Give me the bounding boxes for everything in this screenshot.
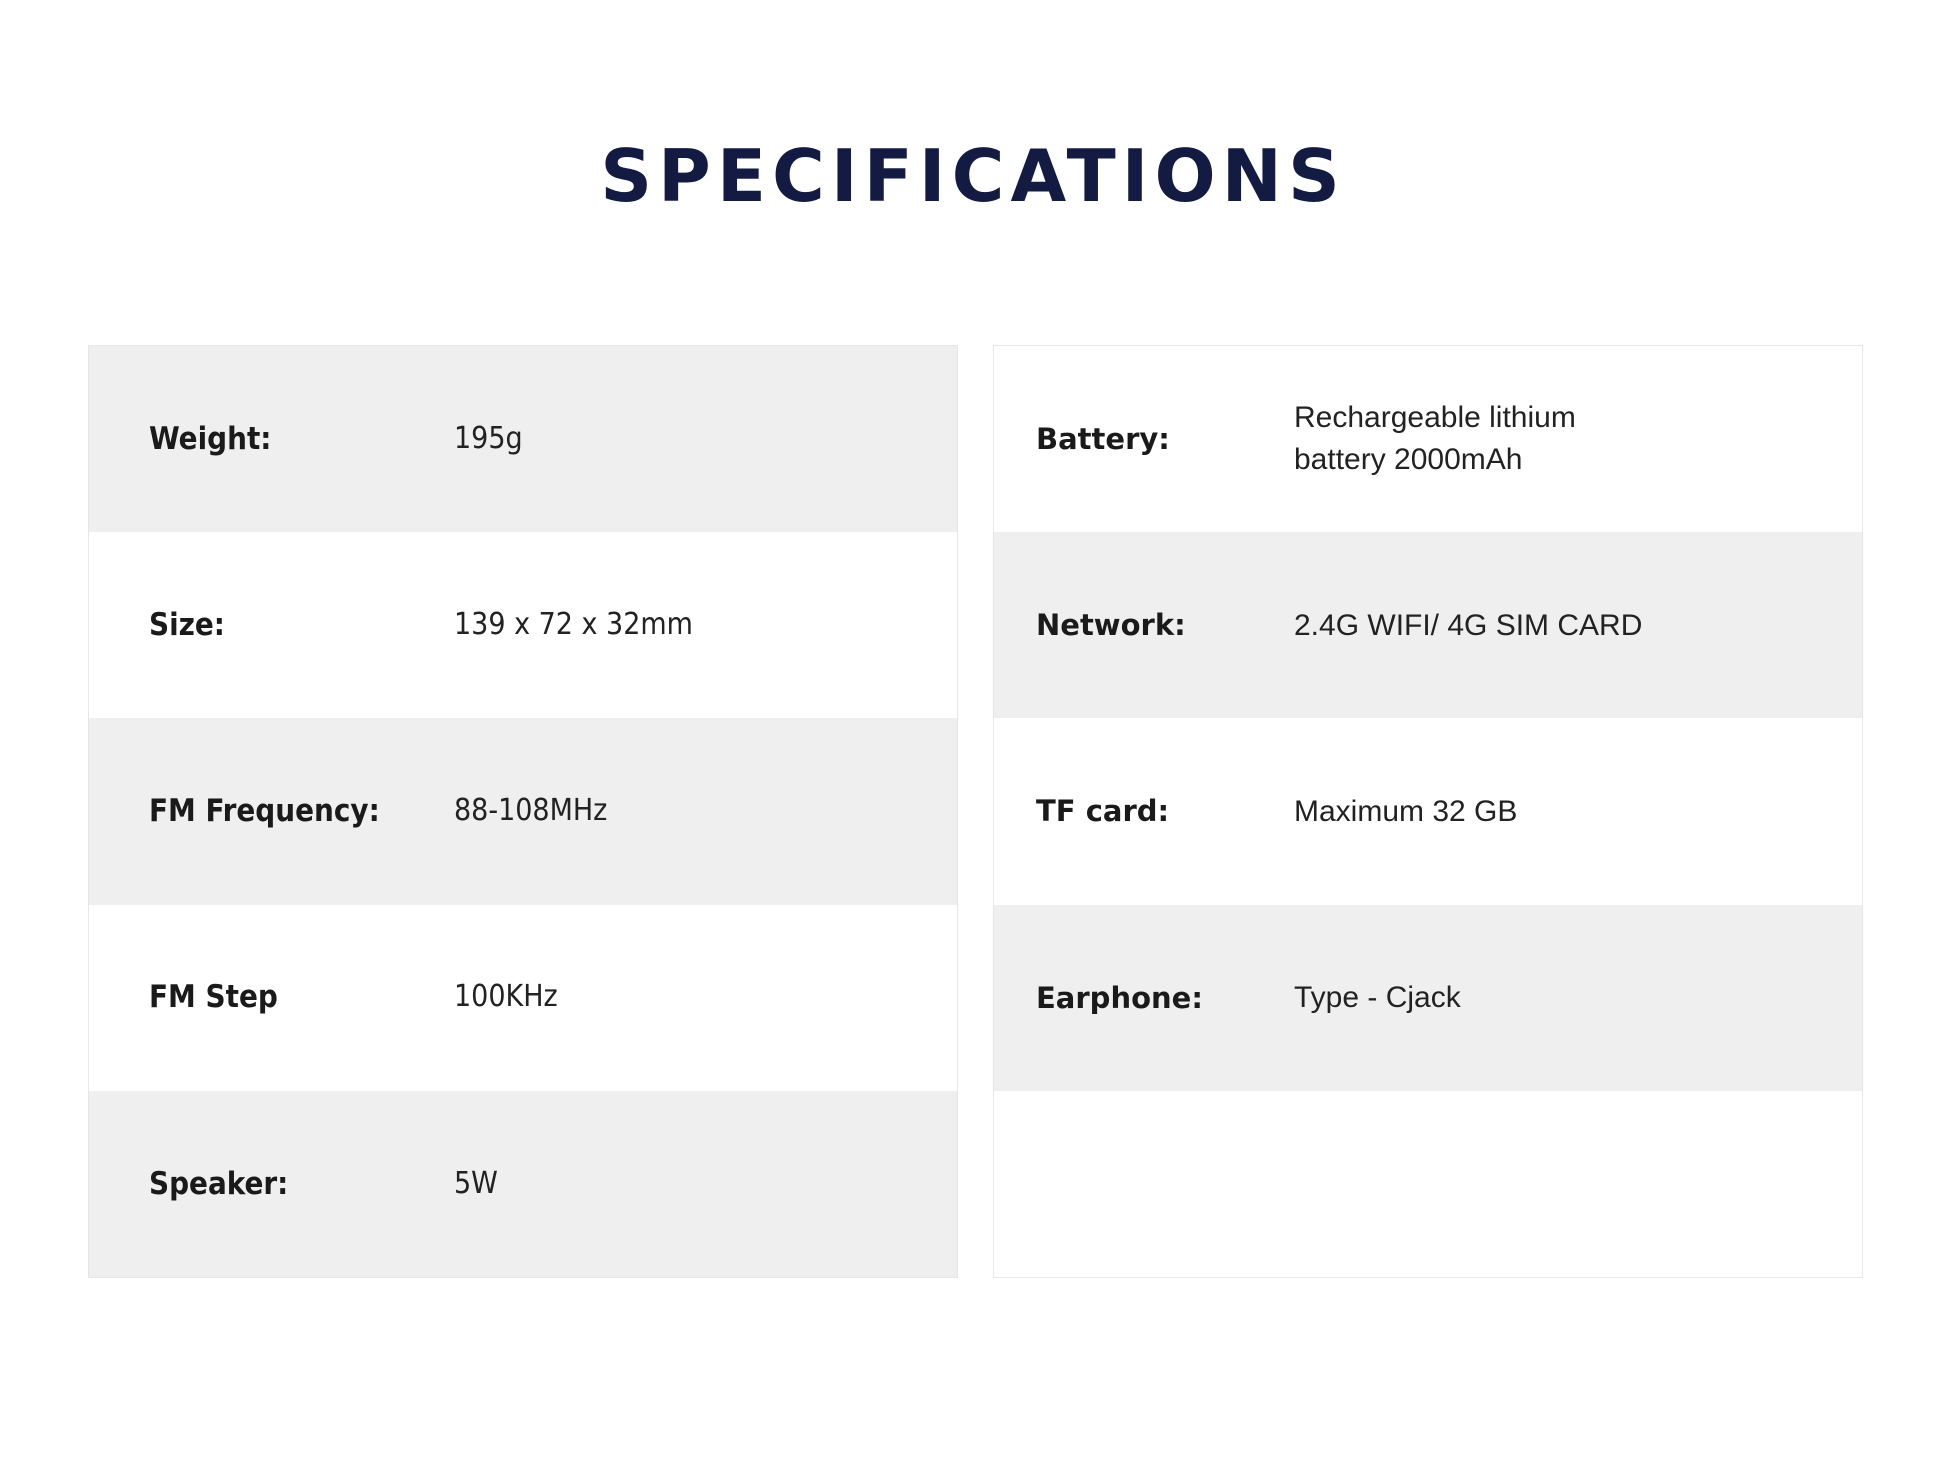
spec-value: Rechargeable lithium battery 2000mAh <box>1294 397 1862 482</box>
spec-value: Maximum 32 GB <box>1294 790 1862 834</box>
spec-value: 2.4G WIFI/ 4G SIM CARD <box>1294 604 1862 648</box>
spec-value: 195g <box>454 419 957 460</box>
spec-value: 100KHz <box>454 977 957 1018</box>
table-row <box>994 1091 1862 1277</box>
table-row: FM Frequency: 88-108MHz <box>89 718 957 904</box>
spec-value: 5W <box>454 1164 957 1205</box>
table-row: Battery: Rechargeable lithium battery 20… <box>994 346 1862 532</box>
page-title: SPECIFICATIONS <box>0 140 1946 212</box>
spec-value: Type - Cjack <box>1294 976 1862 1020</box>
table-row: Network: 2.4G WIFI/ 4G SIM CARD <box>994 532 1862 718</box>
spec-label: Earphone: <box>994 980 1294 1016</box>
table-row: Weight: 195g <box>89 346 957 532</box>
table-row: Size: 139 x 72 x 32mm <box>89 532 957 718</box>
spec-label: TF card: <box>994 793 1294 829</box>
spec-label: Size: <box>89 606 454 645</box>
spec-label: Weight: <box>89 420 454 459</box>
spec-label: Network: <box>994 607 1294 643</box>
table-row: Earphone: Type - Cjack <box>994 905 1862 1091</box>
spec-value: 88-108MHz <box>454 791 957 832</box>
table-row: FM Step 100KHz <box>89 905 957 1091</box>
spec-label: Speaker: <box>89 1165 454 1204</box>
table-row: TF card: Maximum 32 GB <box>994 718 1862 904</box>
specifications-table-left: Weight: 195g Size: 139 x 72 x 32mm FM Fr… <box>88 345 958 1278</box>
specifications-table-right: Battery: Rechargeable lithium battery 20… <box>993 345 1863 1278</box>
table-row: Speaker: 5W <box>89 1091 957 1277</box>
spec-label: FM Frequency: <box>89 792 454 831</box>
spec-label: Battery: <box>994 421 1294 457</box>
spec-value: 139 x 72 x 32mm <box>454 605 957 646</box>
spec-label: FM Step <box>89 978 454 1017</box>
